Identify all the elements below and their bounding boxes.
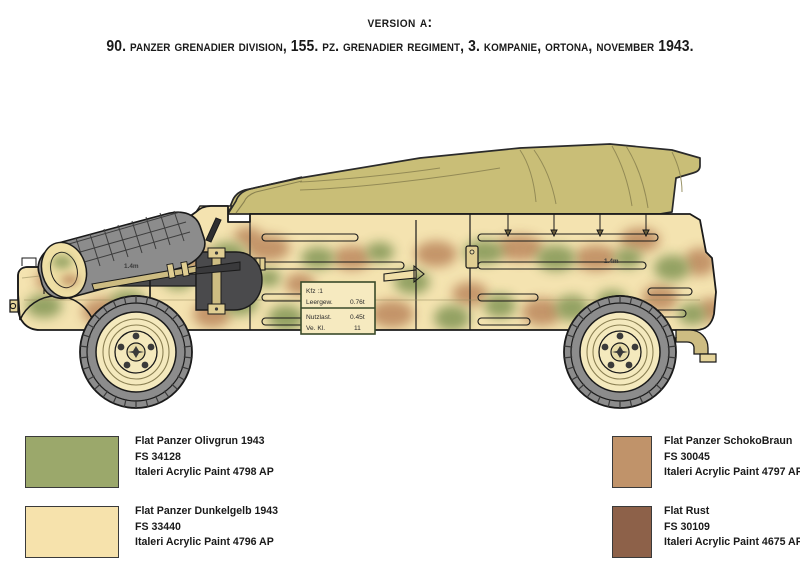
data-plate-row-3-label: Ve. Kl.: [306, 325, 325, 332]
vehicle-illustration: Kfz :1 Leergew. 0.76t Nutzlast. 0.45t Ve…: [0, 62, 800, 412]
data-plate-row-2-value: 0.45t: [350, 314, 365, 321]
vehicle-body-group: Kfz :1 Leergew. 0.76t Nutzlast. 0.45t Ve…: [10, 144, 726, 408]
data-plate-row-0-label: Kfz :1: [306, 288, 323, 295]
dimension-label-rear: 1.4m: [604, 258, 619, 265]
paint-name: Flat Panzer SchokoBraun: [664, 434, 800, 450]
vehicle-data-plate: Kfz :1 Leergew. 0.76t Nutzlast. 0.45t Ve…: [301, 282, 375, 334]
version-label: Version A:: [32, 14, 768, 31]
unit-description: 90. Panzer Grenadier Division, 155. Pz. …: [40, 38, 760, 56]
color-swatch: [612, 506, 652, 558]
paint-product-code: Italeri Acrylic Paint 4798 AP: [135, 465, 274, 481]
paint-fs-code: FS 30045: [664, 450, 800, 466]
paint-product-code: Italeri Acrylic Paint 4796 AP: [135, 535, 278, 551]
painting-guide-sheet: Version A: 90. Panzer Grenadier Division…: [0, 0, 800, 579]
paint-name: Flat Rust: [664, 504, 800, 520]
paint-fs-code: FS 30109: [664, 520, 800, 536]
color-swatch: [612, 436, 652, 488]
paint-name: Flat Panzer Olivgrun 1943: [135, 434, 274, 450]
color-swatch: [25, 436, 119, 488]
paint-name: Flat Panzer Dunkelgelb 1943: [135, 504, 278, 520]
paint-legend: Flat Panzer Olivgrun 1943 FS 34128 Itale…: [0, 428, 800, 578]
paint-fs-code: FS 34128: [135, 450, 274, 466]
paint-fs-code: FS 33440: [135, 520, 278, 536]
data-plate-row-1-value: 0.76t: [350, 299, 365, 306]
page-title: Version A: 90. Panzer Grenadier Division…: [0, 14, 800, 56]
data-plate-row-2-label: Nutzlast.: [306, 314, 332, 321]
paint-product-code: Italeri Acrylic Paint 4797 AP: [664, 465, 800, 481]
paint-product-code: Italeri Acrylic Paint 4675 AP: [664, 535, 800, 551]
canvas-top: [227, 144, 700, 214]
data-plate-row-1-label: Leergew.: [306, 299, 333, 306]
data-plate-row-3-value: 11: [354, 325, 361, 332]
dimension-label-front: 1.4m: [124, 263, 139, 270]
rear-wheel: [564, 296, 676, 408]
color-swatch: [25, 506, 119, 558]
front-wheel: [80, 296, 192, 408]
